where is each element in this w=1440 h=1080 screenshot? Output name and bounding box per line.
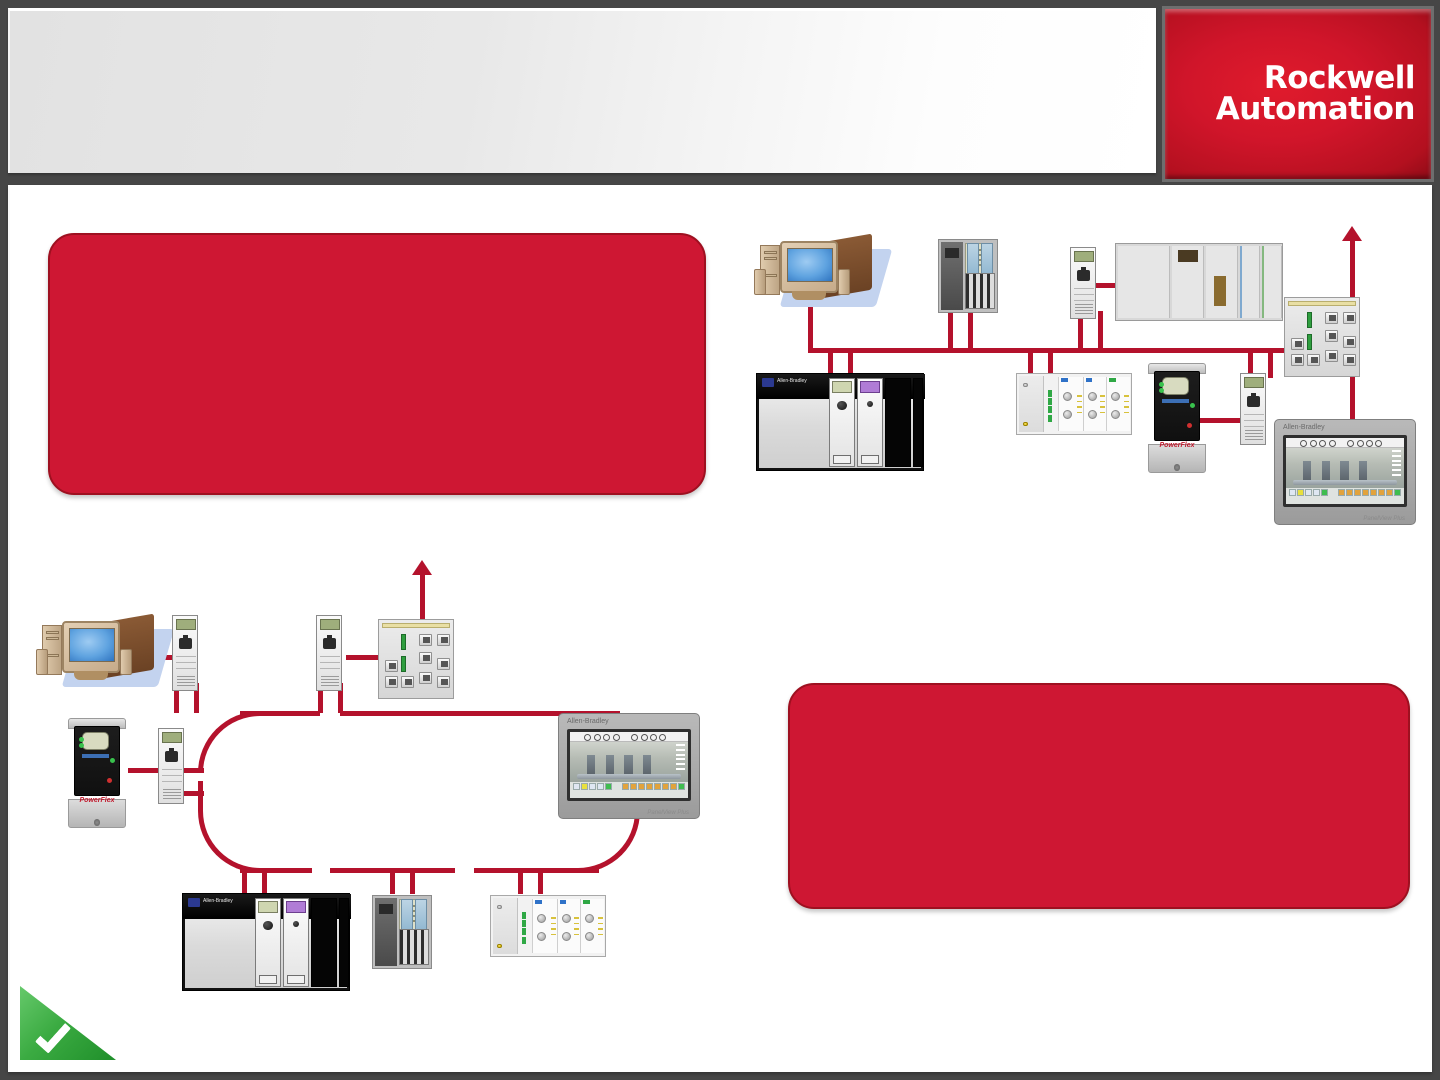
- rj45-port-icon: [165, 751, 178, 762]
- ring-corner-top-left: [198, 711, 260, 773]
- chassis-brand-label: Allen-Bradley: [777, 378, 807, 384]
- drive-keypad-display: [82, 732, 109, 750]
- io-module-2: [415, 899, 427, 933]
- hmi-toolbar[interactable]: [570, 732, 687, 742]
- ring-drop-compactlogix-a: [390, 868, 395, 894]
- callout-box-top: [48, 233, 706, 495]
- pc-speaker-left: [754, 269, 766, 295]
- drive-body: [1154, 371, 1200, 441]
- switch-port-9: [1343, 354, 1356, 366]
- controllogix-chassis: Allen-Bradley: [182, 893, 350, 991]
- chassis-slot-cpu: [255, 898, 281, 987]
- rj45-port-icon: [1077, 270, 1090, 281]
- network-link-comm2-b: [1268, 348, 1273, 378]
- chassis-slot-blank-2: [913, 378, 923, 467]
- hmi-model-label: PanelView Plus: [647, 810, 689, 816]
- switch-port-3: [419, 652, 432, 664]
- presentation-slide: Rockwell Automation: [0, 0, 1440, 1080]
- flex-io-block: [490, 895, 606, 957]
- comm-footer-label: [1245, 428, 1263, 440]
- ethernet-comm-module-1: [172, 615, 198, 691]
- hmi-toolbar[interactable]: [1286, 438, 1403, 448]
- controller-cpu-module: [941, 242, 963, 310]
- ethernet-comm-module-2: [316, 615, 342, 691]
- hmi-process-graphic: [570, 742, 687, 782]
- chassis-slot-ethernet: [857, 378, 883, 467]
- ring-segment-bottom-left: [240, 868, 312, 873]
- pc-screen: [69, 628, 115, 662]
- ring-corner-bottom-left: [198, 781, 260, 873]
- panelview-plus-hmi: Allen-Bradley: [558, 713, 700, 819]
- compactlogix-controller: [372, 895, 432, 969]
- drive-vent-icon: [1174, 464, 1181, 471]
- pc-screen: [787, 248, 833, 282]
- network-link-compactlogix-b: [968, 311, 973, 351]
- network-link-controllogix-b: [848, 348, 853, 376]
- io-module-analog: [580, 899, 604, 953]
- switch-port-2: [1343, 312, 1356, 324]
- workstation-pc: [754, 231, 894, 311]
- compactlogix-controller: [938, 239, 998, 313]
- network-uplink-arrow: [1350, 239, 1355, 303]
- flex-io-block: [1016, 373, 1132, 435]
- drive-brand-label: PowerFlex: [1159, 442, 1194, 449]
- io-module-analog: [1106, 377, 1130, 431]
- switch-port-5: [1291, 354, 1304, 366]
- ethernet-comm-module-2: [1240, 373, 1266, 445]
- ring-drop-controllogix-b: [262, 868, 267, 894]
- controller-terminal-block: [399, 929, 429, 965]
- chassis-slot-blank-1: [885, 378, 911, 467]
- powerflex-drive: PowerFlex: [68, 718, 126, 828]
- io-network-adapter: [493, 898, 518, 954]
- stratix-ethernet-switch: [1284, 297, 1360, 377]
- switch-port-2: [437, 634, 450, 646]
- hmi-button-row[interactable]: [572, 783, 687, 798]
- network-link-comm1-b: [1098, 311, 1103, 351]
- ring-drop-flexio-a: [518, 868, 523, 894]
- rockwell-automation-logo: Rockwell Automation: [1162, 6, 1434, 182]
- controller-terminal-block: [965, 273, 995, 309]
- io-module-2: [981, 243, 993, 277]
- ethernet-comm-module-3: [158, 728, 184, 804]
- io-module-digital-1: [1058, 377, 1083, 431]
- switch-top-strip: [1288, 301, 1356, 306]
- io-module-digital-1: [532, 899, 557, 953]
- switch-port-8: [437, 658, 450, 670]
- slide-body-panel: Allen-Bradley: [8, 185, 1432, 1072]
- pc-speaker-left: [36, 649, 48, 675]
- stratix-ethernet-switch: [378, 619, 454, 699]
- diagram-linear-star-topology: Allen-Bradley: [740, 223, 1430, 553]
- hmi-bezel: [1283, 435, 1406, 508]
- switch-port-7: [1325, 350, 1338, 362]
- plc5-chassis: [1115, 243, 1283, 321]
- ethernet-comm-module-1: [1070, 247, 1096, 319]
- rj45-port-icon: [179, 638, 192, 649]
- hmi-screen: [570, 732, 687, 799]
- logo-line-2: Automation: [1216, 94, 1415, 125]
- panelview-plus-hmi: Allen-Bradley: [1274, 419, 1416, 525]
- pc-speaker-right: [838, 269, 850, 295]
- io-module-digital-2: [557, 899, 580, 953]
- allen-bradley-logo-icon: [188, 898, 200, 907]
- io-module-1: [401, 899, 413, 933]
- comm-display: [1074, 251, 1094, 262]
- pc-monitor: [780, 241, 838, 293]
- io-network-adapter: [1019, 376, 1044, 432]
- green-check-badge: [20, 986, 118, 1062]
- pc-monitor-base: [792, 291, 826, 300]
- workstation-pc: [36, 611, 176, 691]
- ring-drop-flexio-b: [538, 868, 543, 894]
- switch-port-5: [385, 676, 398, 688]
- switch-port-7: [419, 672, 432, 684]
- chassis-slot-ethernet: [283, 898, 309, 987]
- slide-header-bar: [8, 8, 1156, 173]
- network-link-pc: [808, 307, 813, 352]
- comm-display: [1244, 377, 1264, 388]
- ring-drop-controllogix-a: [242, 868, 247, 894]
- drive-brand-label: PowerFlex: [79, 797, 114, 804]
- hmi-brand-label: Allen-Bradley: [1283, 424, 1325, 431]
- estop-indicator-icon: [1023, 422, 1028, 427]
- hmi-screen: [1286, 438, 1403, 505]
- switch-port-1: [419, 634, 432, 646]
- ring-link-drive-adapter: [128, 768, 160, 773]
- switch-port-1: [1325, 312, 1338, 324]
- network-link-switch-hmi: [1350, 371, 1355, 421]
- rj45-port-icon: [1247, 396, 1260, 407]
- io-module-digital-2: [1083, 377, 1106, 431]
- diagram-device-level-ring: PowerFlex Allen-Bradley: [50, 563, 730, 983]
- drive-keypad-display: [1162, 377, 1189, 395]
- ring-link-comm-switch: [346, 655, 380, 660]
- ring-drop-compactlogix-b: [410, 868, 415, 894]
- rj45-port-icon: [323, 638, 336, 649]
- chassis-brand-label: Allen-Bradley: [203, 898, 233, 904]
- network-link-controllogix-a: [828, 348, 833, 376]
- hmi-button-row[interactable]: [1288, 489, 1403, 504]
- chassis-slot-blank-1: [311, 898, 337, 987]
- switch-port-6: [401, 676, 414, 688]
- badge-triangle: [20, 986, 116, 1060]
- estop-indicator-icon: [497, 944, 502, 949]
- switch-port-4: [1291, 338, 1304, 350]
- switch-port-6: [1307, 354, 1320, 366]
- io-module-1: [967, 243, 979, 277]
- comm-footer-label: [1075, 302, 1093, 314]
- powerflex-drive: PowerFlex: [1148, 363, 1206, 473]
- callout-box-bottom: [788, 683, 1410, 909]
- network-link-compactlogix-a: [948, 311, 953, 351]
- allen-bradley-logo-icon: [762, 378, 774, 387]
- logo-text: Rockwell Automation: [1216, 63, 1431, 125]
- switch-port-3: [1325, 330, 1338, 342]
- ring-segment-bottom-right: [474, 868, 599, 873]
- switch-port-9: [437, 676, 450, 688]
- controller-cpu-module: [375, 898, 397, 966]
- chassis-slot-cpu: [829, 378, 855, 467]
- hmi-model-label: PanelView Plus: [1363, 516, 1405, 522]
- pc-speaker-right: [120, 649, 132, 675]
- drive-vent-icon: [94, 819, 101, 826]
- switch-port-8: [1343, 336, 1356, 348]
- hmi-brand-label: Allen-Bradley: [567, 718, 609, 725]
- switch-port-4: [385, 660, 398, 672]
- hmi-process-graphic: [1286, 448, 1403, 488]
- network-uplink-arrow: [420, 573, 425, 623]
- controllogix-chassis: Allen-Bradley: [756, 373, 924, 471]
- chassis-slot-blank-2: [339, 898, 349, 987]
